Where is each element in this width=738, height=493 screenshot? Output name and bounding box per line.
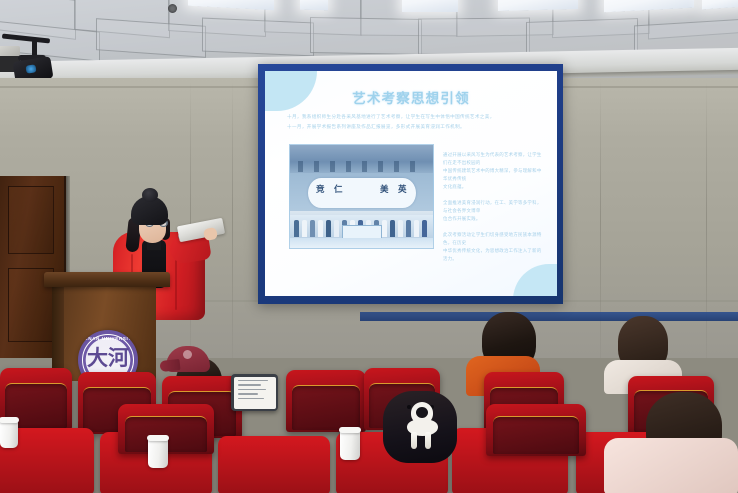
slide-subtitle: 十月，我系组织师生分赴各采风基地进行了艺术考察，让学生在写生中体悟中国传统艺术之… xyxy=(287,113,539,133)
logo-glyph: 大河 xyxy=(78,348,138,369)
slide-body-text: 通过开展以采风写生为代表的艺术考察，让学生们在走不出校园的 中国传统建筑艺术中的… xyxy=(443,151,545,271)
paper-cup[interactable] xyxy=(148,438,168,468)
auditorium-seat[interactable] xyxy=(286,370,366,432)
presentation-slide: 艺术考察思想引领 十月，我系组织师生分赴各采风基地进行了艺术考察，让学生在写生中… xyxy=(265,71,557,296)
slide-title: 艺术考察思想引领 xyxy=(265,87,557,107)
photo-ground xyxy=(290,238,433,248)
slide-group-photo: 竞 仁 美 英 xyxy=(289,144,434,249)
cap-brim xyxy=(159,359,180,372)
projection-screen: 艺术考察思想引领 十月，我系组织师生分赴各采风基地进行了艺术考察，让学生在写生中… xyxy=(258,64,563,304)
lecture-hall-scene: 艺术考察思想引领 十月，我系组织师生分赴各采风基地进行了艺术考察，让学生在写生中… xyxy=(0,0,738,493)
audience-pink-jacket xyxy=(604,438,738,493)
slide-body-line: 中华优秀传统文化，为思想政治工作注入了新的活力。 xyxy=(443,248,542,261)
photo-plaque-char: 竞 xyxy=(316,183,325,195)
paper-cup[interactable] xyxy=(0,420,18,448)
cap-logo xyxy=(183,350,192,359)
slide-subtitle-line: 十月，我系组织师生分赴各采风基地进行了艺术考察，让学生在写生中体悟中国传统艺术之… xyxy=(287,113,539,122)
slide-body-line: 中国传统建筑艺术中的博大精深，参与理解和中华优秀传统 xyxy=(443,168,542,181)
auditorium-seat[interactable] xyxy=(486,404,586,456)
slide-body-line: 通过开展以采风写生为代表的艺术考察，让学生们在走不出校园的 xyxy=(443,152,542,165)
slide-subtitle-line: 十一月，开展学术报告系列讲座及作品汇报展览，多形式开展美育浸润工作机制。 xyxy=(287,123,539,132)
slide-body-line: 此次考察活动让学生们切身感受地方民族本源特色，在历史 xyxy=(443,232,542,245)
paper-cup-lid xyxy=(147,435,169,441)
tablet-screen xyxy=(234,377,276,409)
paper-cup-lid xyxy=(0,417,19,423)
logo-text: HENAN UNIVERSITY xyxy=(78,336,138,341)
presenter-hat-pom xyxy=(142,188,158,202)
paper-cup-lid xyxy=(339,427,361,433)
slide-body-line: 文化底蕴。 xyxy=(443,184,466,189)
ceiling-vent xyxy=(168,4,177,13)
podium-top-surface xyxy=(44,272,170,287)
paper-cup[interactable] xyxy=(340,430,360,460)
wall-accent-strip xyxy=(360,312,738,321)
photo-plaque-char: 仁 xyxy=(334,183,343,195)
ceiling-light-panel xyxy=(300,0,328,10)
slide-body-line: 位合作开展实践。 xyxy=(443,216,481,221)
photo-plaque-char: 美 xyxy=(380,183,389,195)
ceiling-light-panel xyxy=(402,0,458,12)
photo-building-roof xyxy=(290,145,433,173)
auditorium-seat[interactable] xyxy=(218,436,330,493)
slide-body-line: 全面推进美育浸润行动，在工、美学等多学科，与社会各界文博单 xyxy=(443,200,542,213)
e-reader-tablet[interactable] xyxy=(231,374,278,411)
photo-plaque-char: 英 xyxy=(398,183,407,195)
